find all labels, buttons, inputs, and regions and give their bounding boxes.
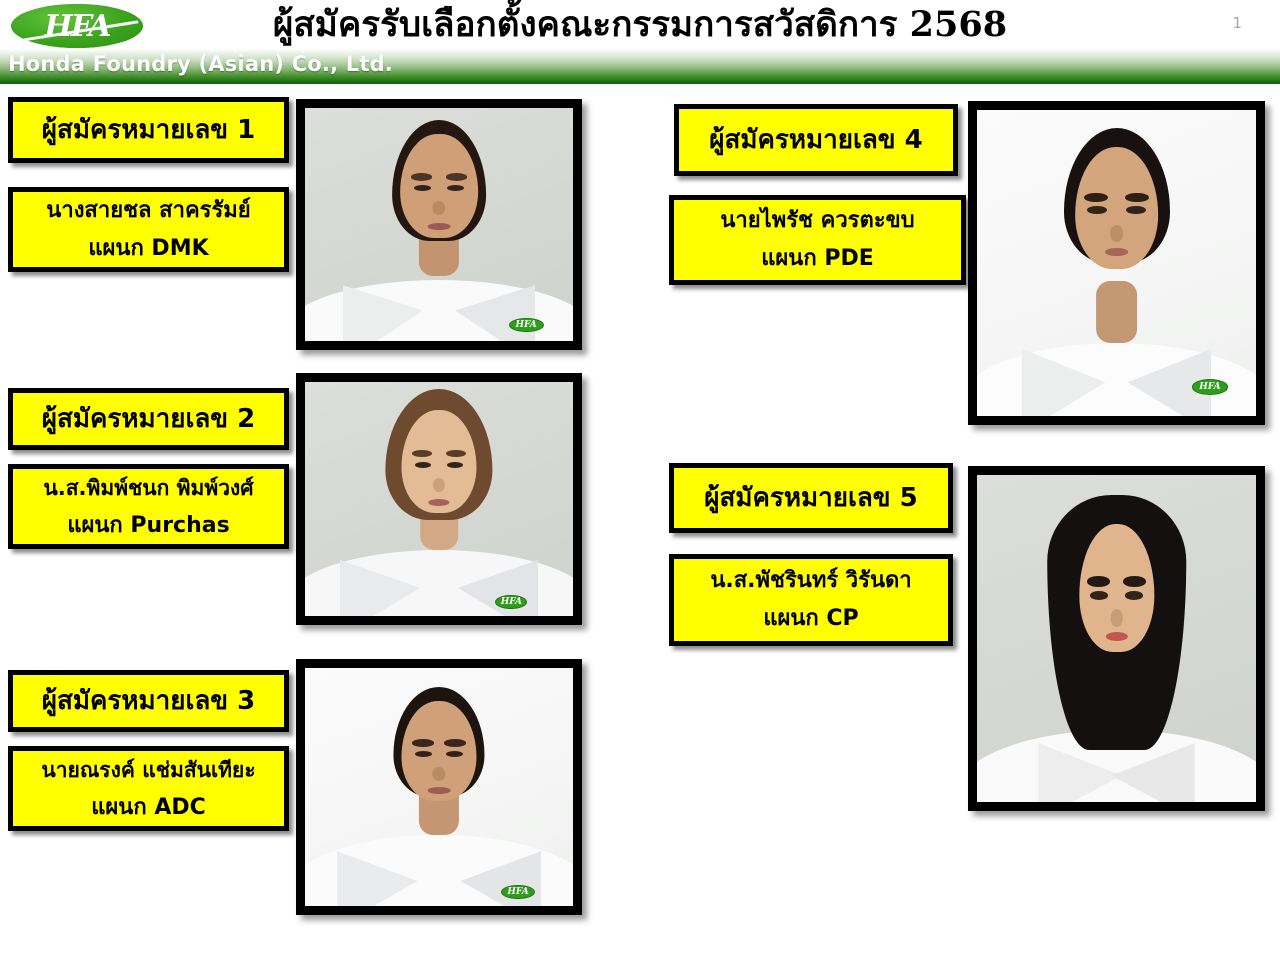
neck	[1096, 281, 1138, 342]
mouth	[1105, 248, 1129, 256]
candidate-1-photo: HFA	[296, 99, 582, 350]
candidate-1-name: นางสายชล สาครรัมย์	[46, 192, 250, 230]
eyebrow-left	[412, 739, 433, 747]
candidate-2-name: น.ส.พิมพ์ชนก พิมพ์วงศ์	[43, 469, 253, 507]
uniform-hfa-badge: HFA	[501, 885, 536, 899]
eye-left	[415, 462, 431, 468]
eyebrow-right	[446, 173, 467, 180]
candidate-3-name: นายณรงค์ แช่มสันเทียะ	[41, 751, 255, 789]
portrait-illustration	[977, 475, 1256, 802]
candidate-5-name: น.ส.พัชรินทร์ วิรันดา	[710, 562, 911, 600]
page-number: 1	[1232, 14, 1242, 32]
candidate-2-photo: HFA	[296, 373, 582, 625]
candidate-1-number-box: ผู้สมัครหมายเลข 1	[8, 97, 289, 163]
nose	[1110, 225, 1124, 242]
slide-canvas: HFA Honda Foundry (Asian) Co., Ltd. ผู้ส…	[0, 0, 1280, 960]
eyebrow-left	[411, 173, 432, 180]
uniform-hfa-badge: HFA	[1192, 379, 1228, 394]
eye-right	[447, 185, 464, 191]
candidate-3-number-label: ผู้สมัครหมายเลข 3	[42, 686, 255, 716]
eyebrow-right	[444, 739, 465, 747]
mouth	[428, 787, 451, 794]
candidate-3-department: แผนก ADC	[91, 789, 206, 827]
eyebrow-right	[1123, 576, 1145, 586]
portrait-illustration: HFA	[305, 382, 573, 616]
eyebrow-left	[1087, 576, 1109, 586]
portrait-illustration: HFA	[977, 110, 1256, 416]
shoulders	[296, 550, 582, 625]
candidate-4-info-box: นายไพรัช ควรตะขบ แผนก PDE	[669, 195, 966, 285]
uniform-hfa-badge: HFA	[509, 318, 544, 332]
candidate-4-number-label: ผู้สมัครหมายเลข 4	[709, 125, 922, 155]
candidate-1-department: แผนก DMK	[88, 230, 208, 268]
candidate-3-number-box: ผู้สมัครหมายเลข 3	[8, 670, 289, 732]
company-name: Honda Foundry (Asian) Co., Ltd.	[8, 52, 393, 76]
eye-left	[1090, 591, 1108, 600]
candidate-5-department: แผนก CP	[763, 600, 858, 638]
candidate-4-department: แผนก PDE	[761, 240, 874, 278]
candidate-1-number-label: ผู้สมัครหมายเลข 1	[42, 115, 255, 145]
candidate-5-info-box: น.ส.พัชรินทร์ วิรันดา แผนก CP	[669, 554, 953, 646]
candidate-2-number-box: ผู้สมัครหมายเลข 2	[8, 388, 289, 450]
portrait-illustration: HFA	[305, 108, 573, 341]
candidate-5-photo	[968, 466, 1265, 811]
face	[401, 410, 476, 513]
candidate-4-name: นายไพรัช ควรตะขบ	[720, 202, 914, 240]
page-title: ผู้สมัครรับเลือกตั้งคณะกรรมการสวัสดิการ …	[0, 2, 1280, 48]
candidate-3-info-box: นายณรงค์ แช่มสันเทียะ แผนก ADC	[8, 746, 289, 831]
eye-left	[414, 185, 431, 191]
nose	[1110, 609, 1123, 627]
candidate-3-photo: HFA	[296, 659, 582, 915]
nose	[433, 478, 445, 492]
candidate-2-department: แผนก Purchas	[67, 507, 229, 545]
candidate-5-number-label: ผู้สมัครหมายเลข 5	[704, 483, 917, 513]
candidate-1-info-box: นางสายชล สาครรัมย์ แผนก DMK	[8, 187, 289, 272]
mouth	[428, 223, 451, 230]
eye-right	[447, 462, 463, 468]
candidate-4-photo: HFA	[968, 101, 1265, 425]
candidate-5-number-box: ผู้สมัครหมายเลข 5	[669, 463, 953, 533]
candidate-2-info-box: น.ส.พิมพ์ชนก พิมพ์วงศ์ แผนก Purchas	[8, 464, 289, 549]
shoulders	[296, 280, 582, 350]
eye-right	[1125, 591, 1143, 600]
candidate-4-number-box: ผู้สมัครหมายเลข 4	[674, 104, 958, 176]
candidate-2-number-label: ผู้สมัครหมายเลข 2	[42, 404, 255, 434]
portrait-illustration: HFA	[305, 668, 573, 906]
eyebrow-right	[1125, 193, 1149, 203]
